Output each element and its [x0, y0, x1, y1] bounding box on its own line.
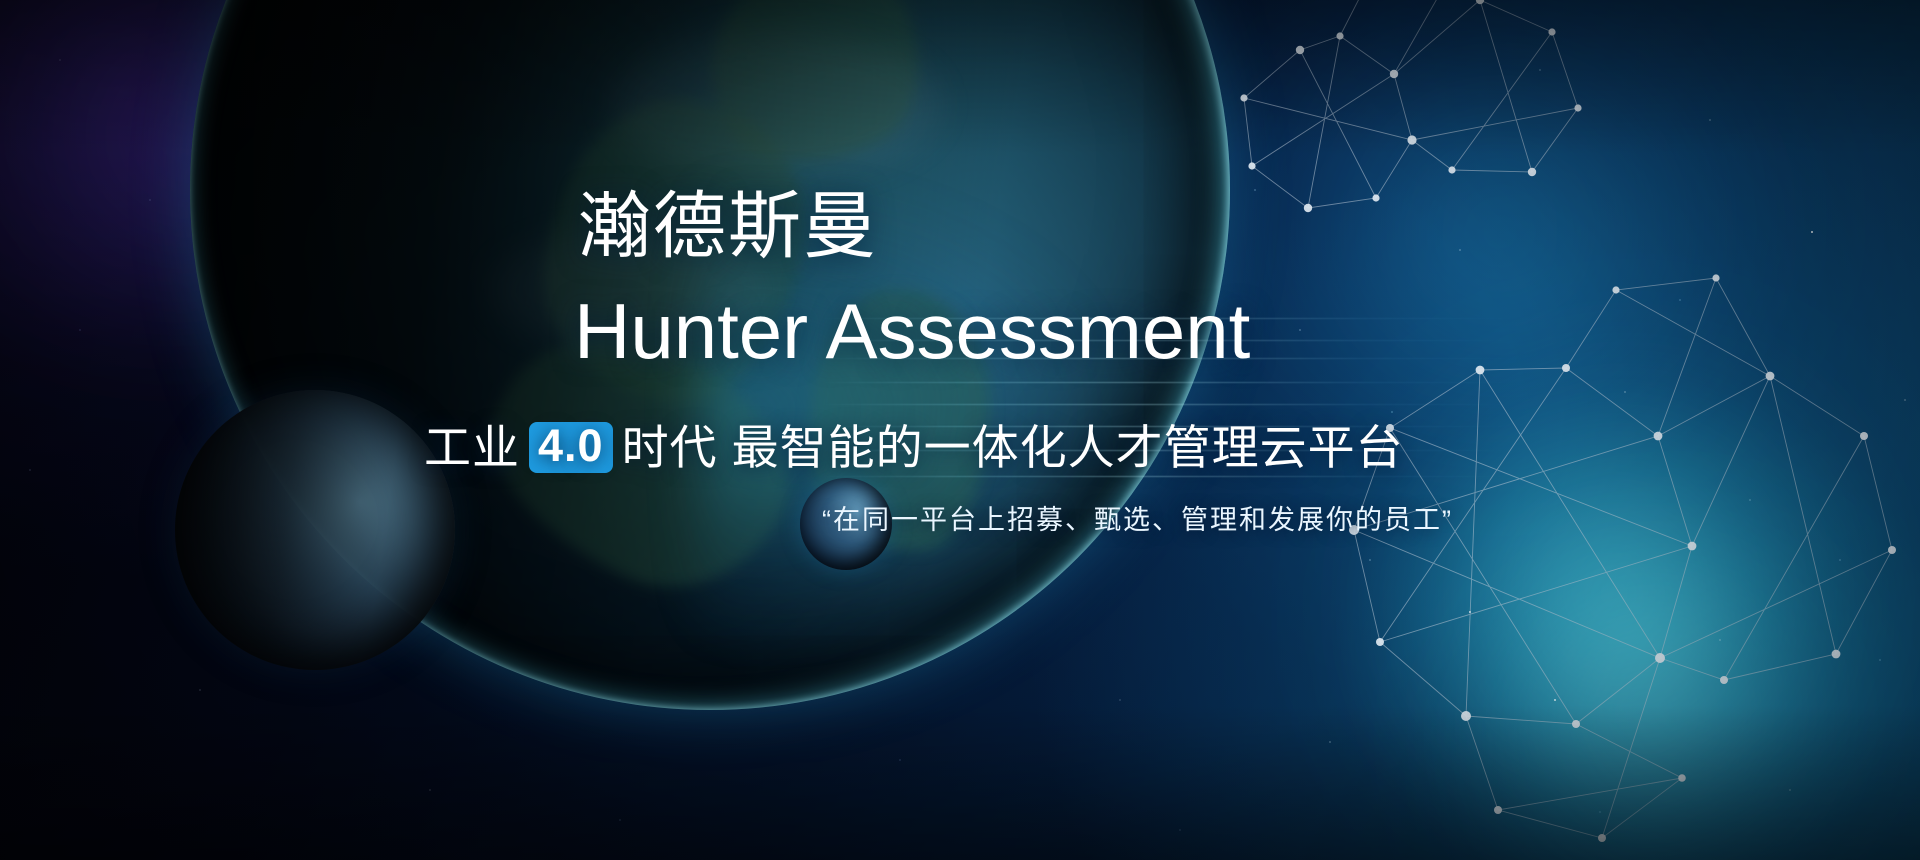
hero-title-chinese: 瀚德斯曼: [578, 190, 878, 263]
hero-subtitle: 工业 4.0 时代 最智能的一体化人才管理云平台: [424, 422, 1404, 473]
subtitle-prefix: 工业: [424, 423, 520, 472]
hero-title-english: Hunter Assessment: [574, 292, 1250, 370]
hero-tagline: “在同一平台上招募、甄选、管理和发展你的员工”: [822, 506, 1453, 536]
hero-banner: 瀚德斯曼 Hunter Assessment 工业 4.0 时代 最智能的一体化…: [0, 0, 1920, 860]
hero-text-block: 瀚德斯曼 Hunter Assessment 工业 4.0 时代 最智能的一体化…: [0, 0, 1920, 860]
subtitle-suffix: 时代 最智能的一体化人才管理云平台: [622, 423, 1404, 472]
industry-version-badge: 4.0: [529, 422, 613, 473]
